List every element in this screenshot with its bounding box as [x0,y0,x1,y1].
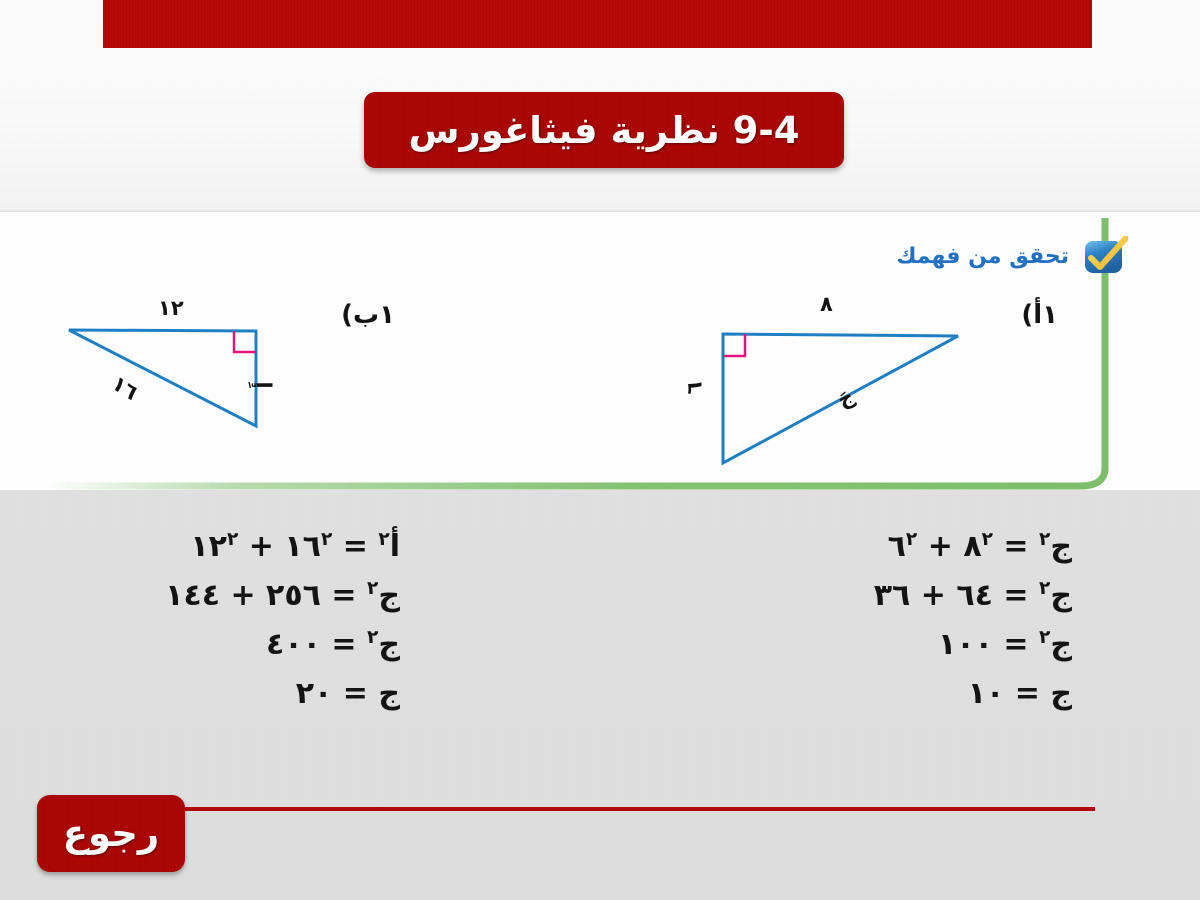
solution-left: أ٢ = ١٦٢ + ١٢٢ ج٢ = ٢٥٦ + ١٤٤ ج٢ = ٤٠٠ ج… [165,522,400,718]
slide-root: 9-4 نظرية فيثاغورس [0,0,1200,900]
figure-a: ١أ) ٨ ٦ جَ [640,288,1060,488]
top-red-banner [103,0,1092,48]
back-button[interactable]: رجوع [37,795,185,872]
figure-a-left-label: ٦ [682,382,706,395]
equation-line: أ٢ = ١٦٢ + ١٢٢ [165,522,400,571]
figure-b-triangle [40,288,410,478]
check-understanding-label: تحقق من فهمك [896,244,1069,269]
figure-b-top-label: ١٢ [158,296,184,320]
page-title: 9-4 نظرية فيثاغورس [408,109,799,152]
check-understanding-header: تحقق من فهمك [896,236,1128,276]
equation-line: ج = ١٠ [874,669,1072,718]
equation-line: ج٢ = ٢٥٦ + ١٤٤ [165,571,400,620]
equation-line: ج٢ = ٦٤ + ٣٦ [874,571,1072,620]
figure-b: ١ب) ١٢ أَ ١٦ [40,288,410,478]
equation-line: ج٢ = ٨٢ + ٦٢ [874,522,1072,571]
figure-b-right-label: أَ [254,381,278,388]
back-button-label: رجوع [63,812,159,855]
solution-right: ج٢ = ٨٢ + ٦٢ ج٢ = ٦٤ + ٣٦ ج٢ = ١٠٠ ج = ١… [874,522,1072,718]
slide-title-plaque: 9-4 نظرية فيثاغورس [364,92,844,168]
equation-line: ج = ٢٠ [165,669,400,718]
figure-a-top-label: ٨ [820,292,833,316]
blue-check-icon [1083,236,1128,276]
equation-line: ج٢ = ١٠٠ [874,620,1072,669]
equation-line: ج٢ = ٤٠٠ [165,620,400,669]
bottom-red-rule [160,807,1095,811]
